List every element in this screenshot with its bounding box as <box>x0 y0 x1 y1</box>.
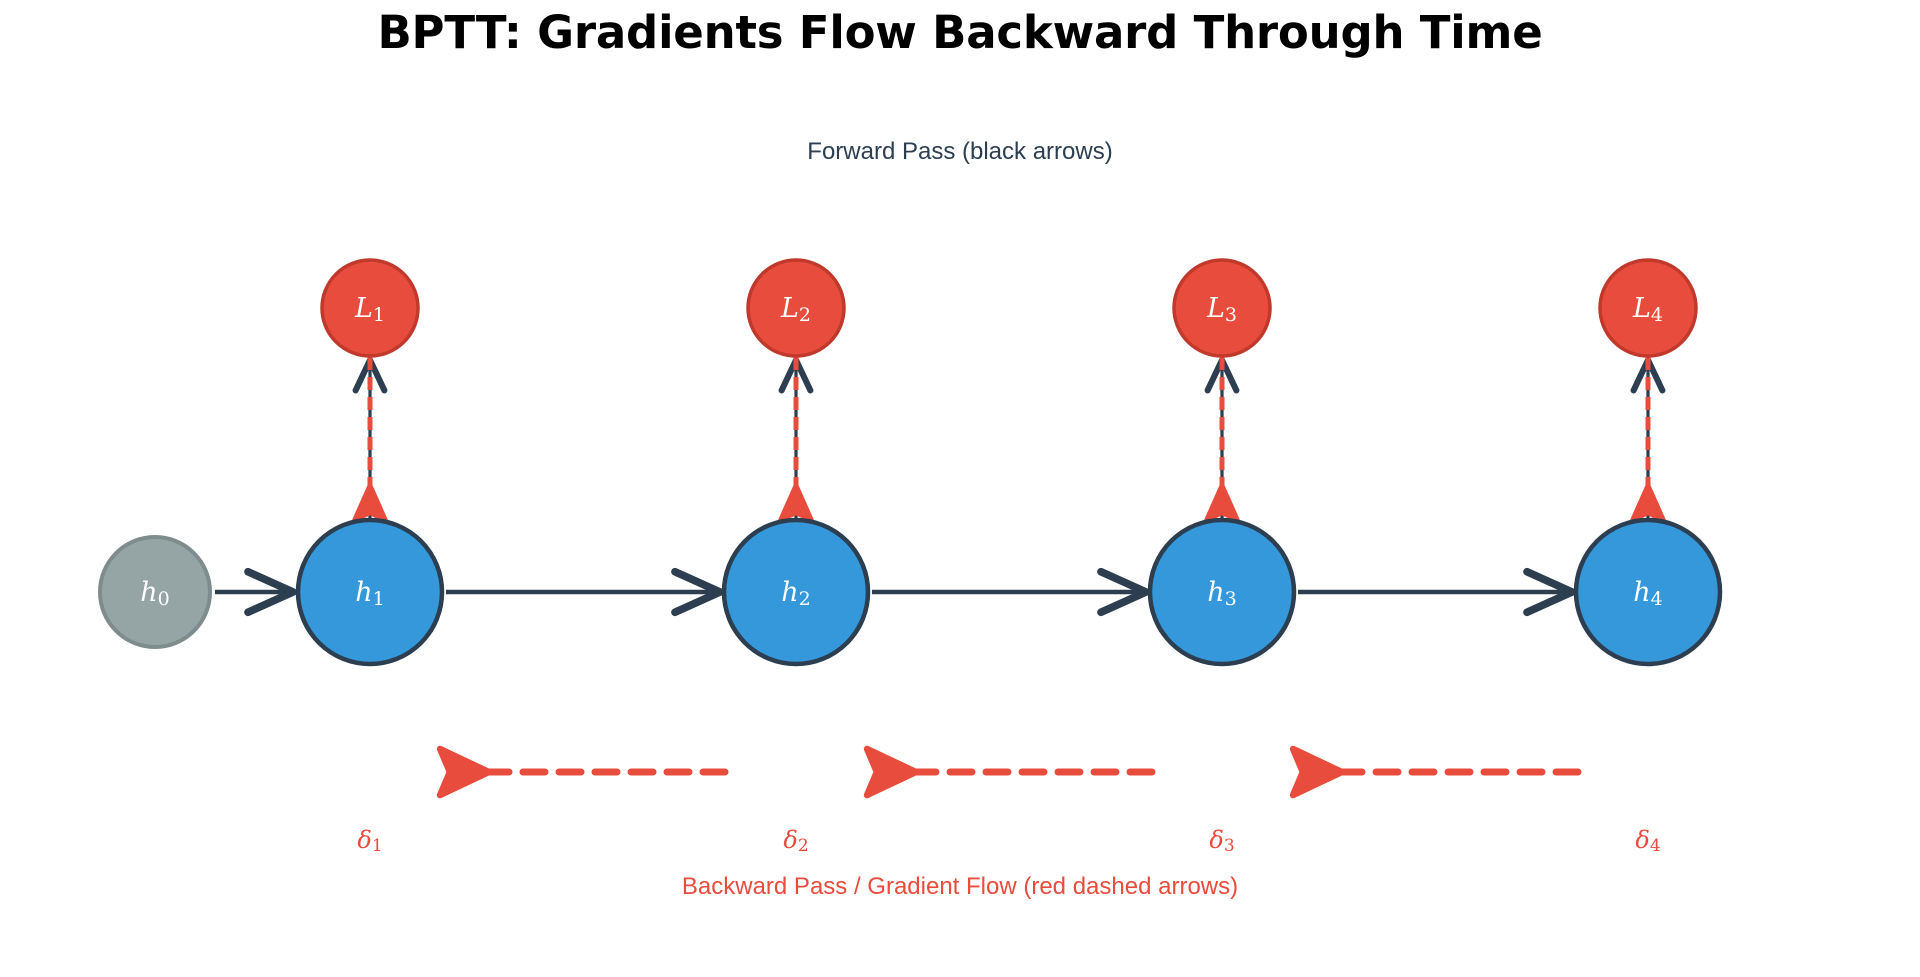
hidden-node-h4[interactable]: h4 <box>1576 520 1720 664</box>
loss-node-L3[interactable]: L3 <box>1174 260 1270 356</box>
hidden-node-h0[interactable]: h0 <box>100 537 210 647</box>
hidden-node-h1[interactable]: h1 <box>298 520 442 664</box>
loss-node-group: L1 L2 L3 L4 <box>322 260 1696 356</box>
forward-loss-edge-group <box>370 360 1648 522</box>
bptt-graph: L1 L2 L3 L4 h0 h1 <box>0 0 1920 977</box>
loss-node-L1[interactable]: L1 <box>322 260 418 356</box>
diagram-canvas: BPTT: Gradients Flow Backward Through Ti… <box>0 0 1920 977</box>
loss-node-L2[interactable]: L2 <box>748 260 844 356</box>
delta-label-2: δ2 <box>783 826 808 856</box>
loss-node-L4[interactable]: L4 <box>1600 260 1696 356</box>
hidden-node-h2[interactable]: h2 <box>724 520 868 664</box>
hidden-node-h3[interactable]: h3 <box>1150 520 1294 664</box>
delta-label-group: δ1 δ2 δ3 δ4 <box>357 826 1660 856</box>
backward-loss-edge-group <box>370 357 1648 514</box>
delta-label-1: δ1 <box>357 826 382 856</box>
delta-label-3: δ3 <box>1209 826 1234 856</box>
delta-label-4: δ4 <box>1635 826 1660 856</box>
